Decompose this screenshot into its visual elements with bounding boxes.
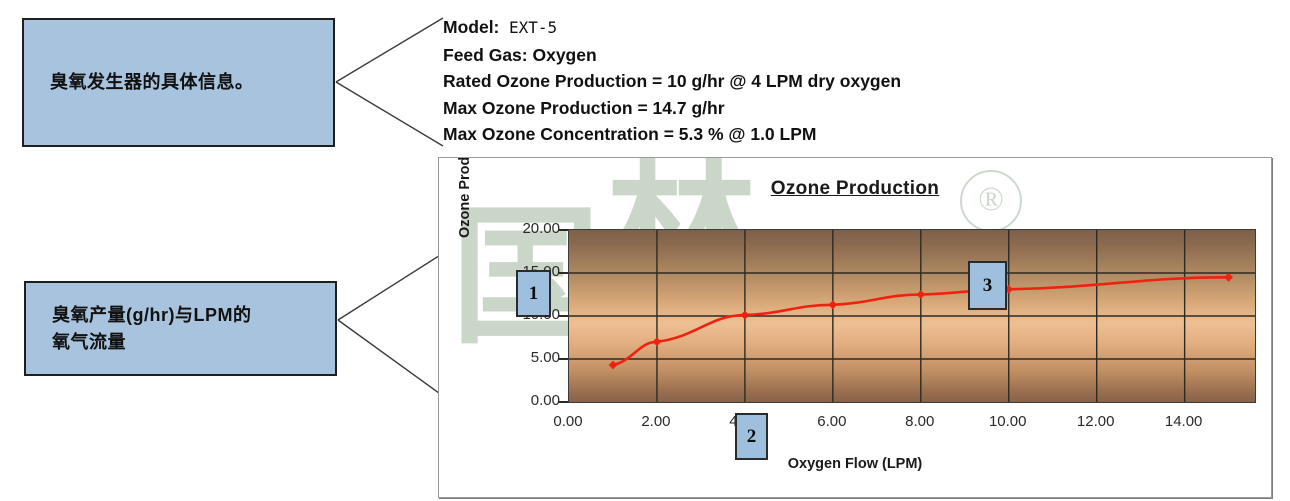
spec-model-value: EXT-5 xyxy=(499,18,557,37)
chart-y-tick-mark xyxy=(559,358,568,360)
chart-x-tick-label: 6.00 xyxy=(797,413,867,430)
chart-x-tick-label: 8.00 xyxy=(885,413,955,430)
spec-line-max-concentration: Max Ozone Concentration = 5.3 % @ 1.0 LP… xyxy=(443,121,1043,148)
chart-x-tick-label: 2.00 xyxy=(621,413,691,430)
annotation-box-1-text: 臭氧发生器的具体信息。 xyxy=(42,63,315,101)
chart-x-tick-label: 0.00 xyxy=(533,413,603,430)
specification-list: Model: EXT-5 Feed Gas: Oxygen Rated Ozon… xyxy=(443,14,1043,148)
chart-x-tick-label: 14.00 xyxy=(1149,413,1219,430)
chart-y-tick-label: 5.00 xyxy=(490,349,560,366)
chart-x-tick-label: 12.00 xyxy=(1061,413,1131,430)
annotation-box-output-info[interactable]: 臭氧产量(g/hr)与LPM的 氧气流量 xyxy=(24,281,337,376)
spec-line-model: Model: EXT-5 xyxy=(443,14,1043,42)
chart-y-tick-mark xyxy=(559,229,568,231)
chart-y-tick-label: 20.00 xyxy=(490,220,560,237)
chart-title: Ozone Production xyxy=(439,178,1271,200)
annotation-box-2-line-2: 氧气流量 xyxy=(52,329,309,355)
chart-series-svg xyxy=(569,230,1255,402)
callout-tag-2[interactable]: 2 xyxy=(735,413,768,460)
spec-model-label: Model: xyxy=(443,17,499,37)
callout-tag-3[interactable]: 3 xyxy=(968,261,1007,310)
chart-plot-area xyxy=(568,229,1256,403)
chart-y-axis-label: Ozone Production g/h) xyxy=(457,157,473,238)
annotation-box-2-text: 臭氧产量(g/hr)与LPM的 氧气流量 xyxy=(44,296,317,360)
chart-container: 国 林 ® Ozone Production Ozone Production … xyxy=(438,157,1272,498)
chart-x-axis-label: Oxygen Flow (LPM) xyxy=(439,456,1271,472)
annotation-box-2-line-1: 臭氧产量(g/hr)与LPM的 xyxy=(52,302,309,328)
callout-tag-1[interactable]: 1 xyxy=(516,270,551,317)
chart-y-tick-mark xyxy=(559,272,568,274)
chart-x-tick-label: 10.00 xyxy=(973,413,1043,430)
page-root: 臭氧发生器的具体信息。 臭氧产量(g/hr)与LPM的 氧气流量 Model: … xyxy=(0,0,1290,501)
spec-line-rated-production: Rated Ozone Production = 10 g/hr @ 4 LPM… xyxy=(443,68,1043,95)
spec-line-feed-gas: Feed Gas: Oxygen xyxy=(443,42,1043,69)
chart-y-tick-label: 0.00 xyxy=(490,392,560,409)
annotation-box-generator-info[interactable]: 臭氧发生器的具体信息。 xyxy=(22,18,335,147)
spec-line-max-production: Max Ozone Production = 14.7 g/hr xyxy=(443,95,1043,122)
chart-y-tick-mark xyxy=(559,401,568,403)
chart-y-tick-mark xyxy=(559,315,568,317)
